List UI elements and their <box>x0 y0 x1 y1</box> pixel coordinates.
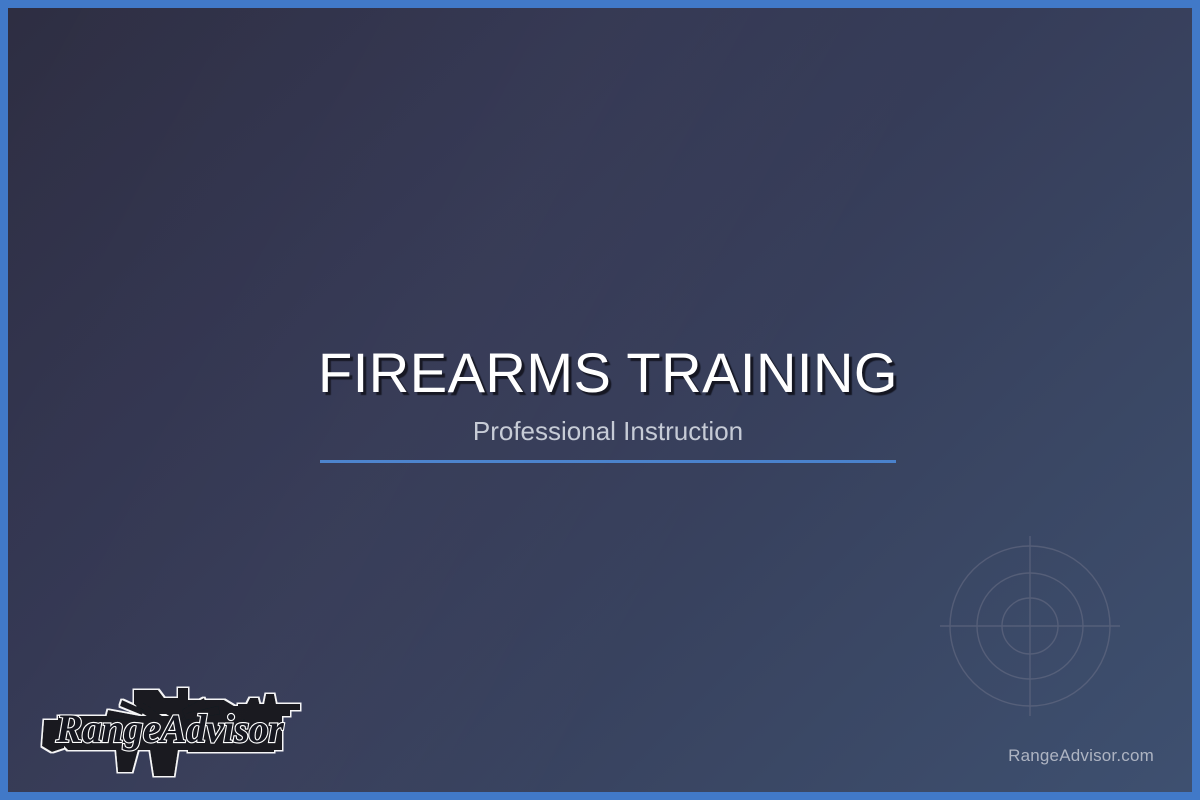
brand-logo: RangeAdvisor <box>38 676 318 780</box>
accent-divider <box>320 460 896 463</box>
brand-logo-text: RangeAdvisor <box>55 706 284 751</box>
title-slide: FIREARMS TRAINING Professional Instructi… <box>0 0 1200 800</box>
title-block: FIREARMS TRAINING Professional Instructi… <box>8 344 1200 445</box>
crosshair-target-icon <box>930 526 1130 726</box>
footer-url: RangeAdvisor.com <box>1008 746 1154 766</box>
page-title: FIREARMS TRAINING <box>8 344 1200 403</box>
page-subtitle: Professional Instruction <box>8 417 1200 446</box>
